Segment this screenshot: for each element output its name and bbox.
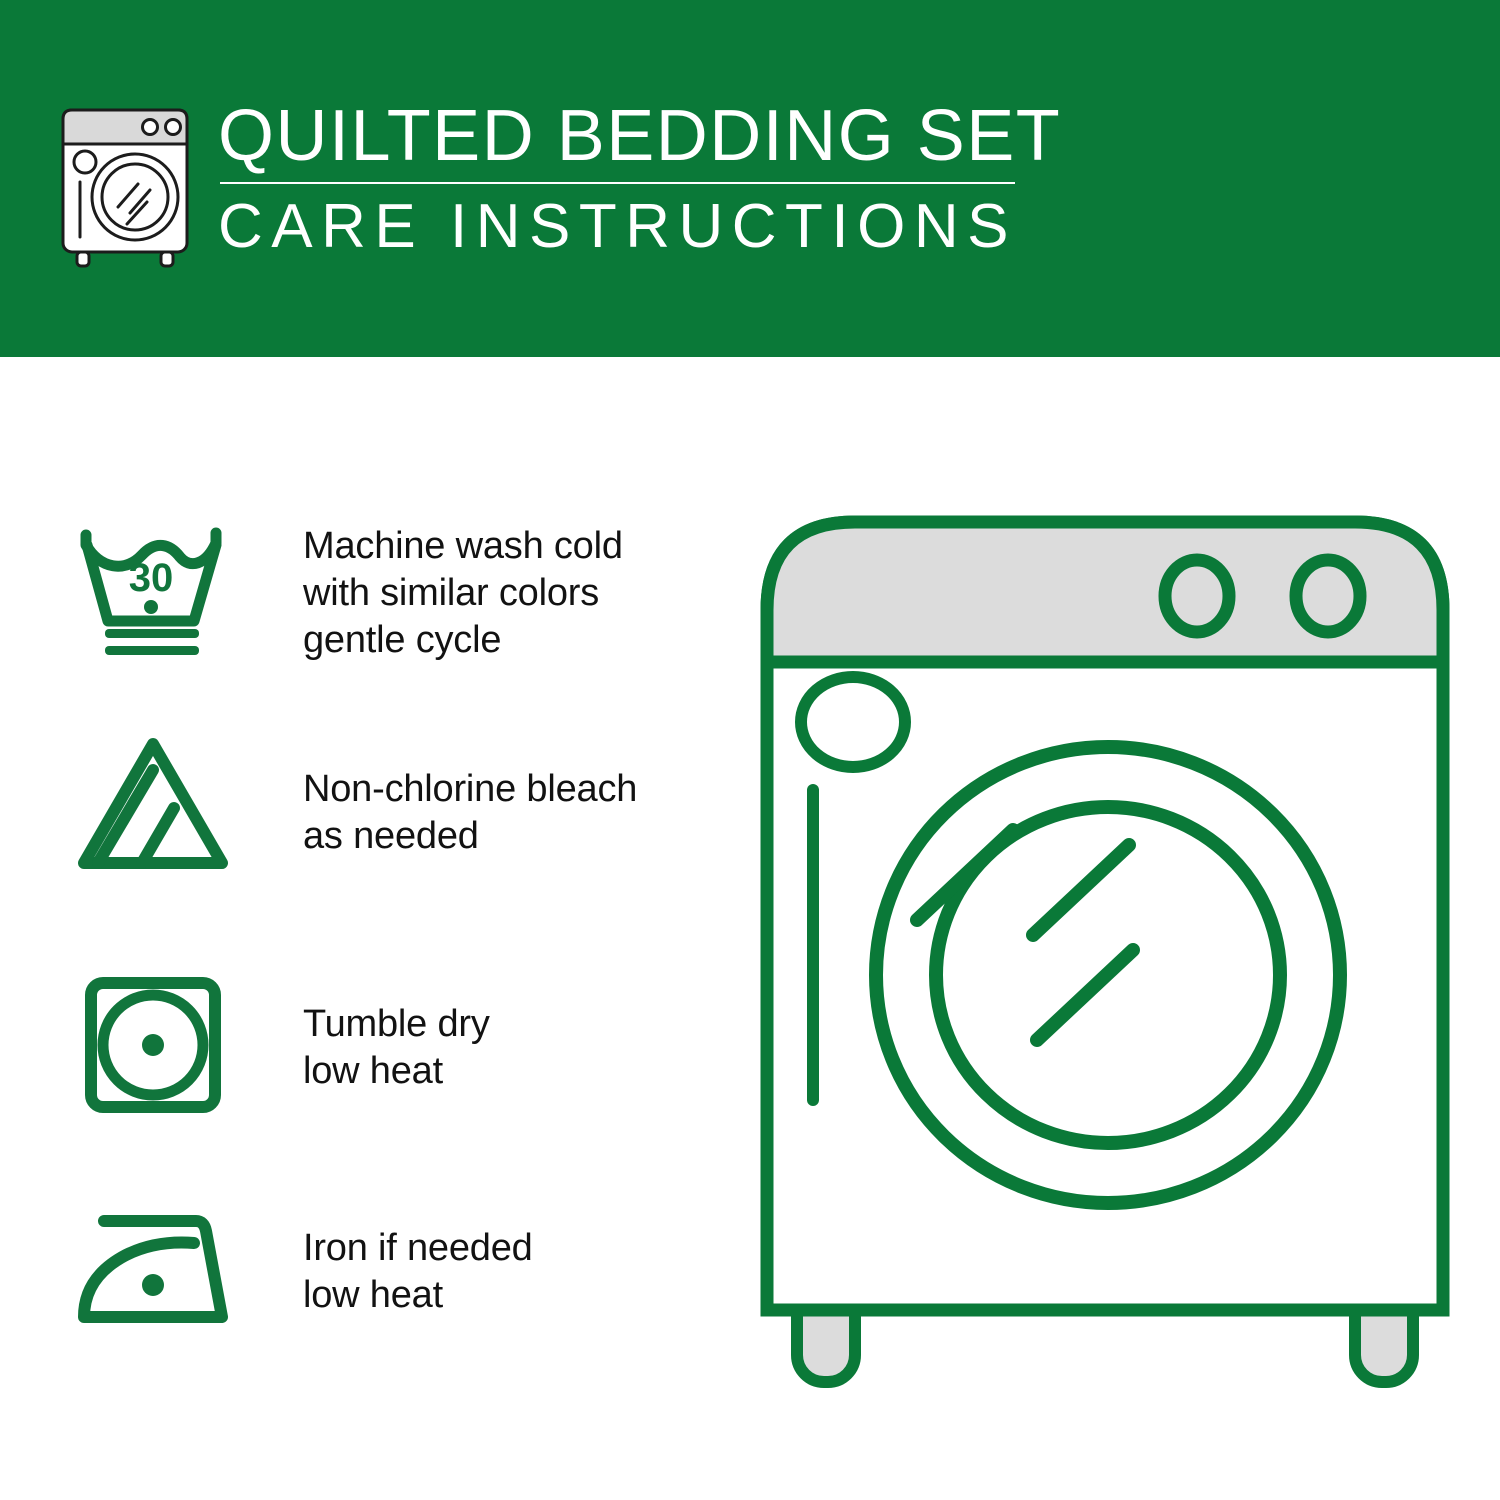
machine-knob-right [1296, 560, 1360, 632]
header-content: QUILTED BEDDING SET CARE INSTRUCTIONS [55, 96, 1055, 286]
machine-knob-left [1165, 560, 1229, 632]
care-line: gentle cycle [303, 617, 710, 664]
care-item-wash: 30 Machine wash cold with similar colors… [70, 517, 710, 667]
tumble-dry-low-icon [70, 969, 245, 1119]
care-line: low heat [303, 1048, 710, 1095]
page-title: QUILTED BEDDING SET [218, 96, 1078, 176]
care-item-bleach-text: Non-chlorine bleach as needed [245, 730, 710, 860]
washing-machine-icon [55, 104, 195, 269]
care-line: as needed [303, 813, 710, 860]
care-instructions-page: QUILTED BEDDING SET CARE INSTRUCTIONS 30 [0, 0, 1500, 1500]
wash-temperature-value: 30 [129, 556, 174, 600]
machine-indicator-light [801, 677, 905, 767]
wash-tub-30-gentle-icon: 30 [70, 517, 245, 667]
care-item-tumble-dry: Tumble dry low heat [70, 969, 710, 1119]
care-line: low heat [303, 1272, 710, 1319]
iron-low-heat-icon [70, 1197, 245, 1347]
non-chlorine-bleach-triangle-icon [70, 730, 245, 880]
care-item-iron: Iron if needed low heat [70, 1197, 710, 1347]
care-line: Iron if needed [303, 1225, 710, 1272]
header-titles: QUILTED BEDDING SET CARE INSTRUCTIONS [218, 96, 1078, 261]
care-instruction-list: 30 Machine wash cold with similar colors… [0, 357, 740, 1500]
care-item-tumble-dry-text: Tumble dry low heat [245, 969, 710, 1095]
care-item-bleach: Non-chlorine bleach as needed [70, 730, 710, 880]
care-line: with similar colors [303, 570, 710, 617]
care-item-iron-text: Iron if needed low heat [245, 1197, 710, 1319]
care-line: Machine wash cold [303, 523, 710, 570]
care-item-wash-text: Machine wash cold with similar colors ge… [245, 517, 710, 664]
care-line: Tumble dry [303, 1001, 710, 1048]
title-divider [220, 182, 1015, 184]
header-banner: QUILTED BEDDING SET CARE INSTRUCTIONS [0, 0, 1500, 357]
care-line: Non-chlorine bleach [303, 766, 710, 813]
front-load-washing-machine-illustration [745, 500, 1465, 1420]
page-subtitle: CARE INSTRUCTIONS [218, 193, 1078, 261]
